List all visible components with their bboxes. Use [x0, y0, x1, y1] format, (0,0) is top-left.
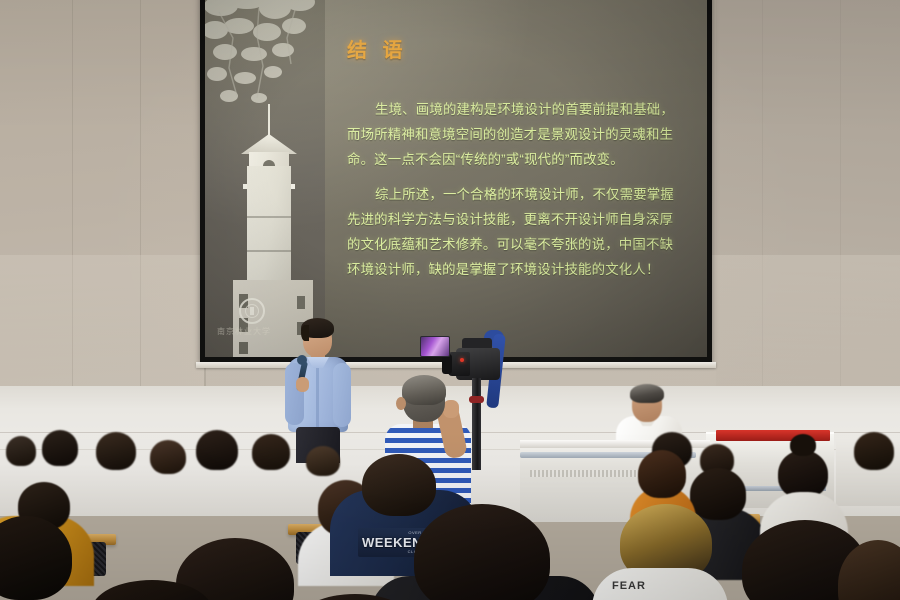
- tower-roof: [241, 134, 297, 154]
- videographer-ear: [396, 397, 406, 410]
- slide-paragraph-2: 综上所述，一个合格的环境设计师，不仅需要掌握先进的科学方法与设计技能，更离不开设…: [347, 182, 679, 282]
- audience-head: [42, 430, 78, 466]
- camera-record-indicator-icon: [460, 358, 464, 362]
- lecture-hall-photo: 南京林业大学 结 语 生境、画境的建构是环境设计的首要前提和基础，而场所精神和意…: [0, 0, 900, 600]
- audience-head: [252, 434, 290, 470]
- projection-screen: 南京林业大学 结 语 生境、画境的建构是环境设计的首要前提和基础，而场所精神和意…: [205, 0, 707, 357]
- black-tee-person-head: [690, 468, 746, 520]
- bun-hair-person-head: [778, 450, 828, 498]
- speaker-right-arm: [333, 363, 351, 427]
- videographer-hand: [443, 400, 459, 418]
- fear-tee-print: FEAR: [612, 580, 646, 592]
- audience-head: [306, 446, 340, 476]
- weekend-jacket-head: [362, 454, 436, 516]
- audience-head: [854, 432, 894, 470]
- projection-screen-frame: 南京林业大学 结 语 生境、画境的建构是环境设计的首要前提和基础，而场所精神和意…: [200, 0, 712, 362]
- hair-bun: [790, 434, 816, 456]
- audience-head: [150, 440, 186, 474]
- videographer-hair: [402, 375, 446, 405]
- front-head-center: [414, 504, 550, 600]
- audience-area: ream yo OVER ALL WEEKEND CLOTHING: [0, 430, 900, 600]
- camera-flip-screen: [420, 336, 450, 357]
- slide-title: 结 语: [347, 34, 679, 63]
- microphone-head-icon: [297, 355, 307, 365]
- podium-man-hair: [630, 384, 664, 403]
- slide-text-area: 结 语 生境、画境的建构是环境设计的首要前提和基础，而场所精神和意境空间的创造才…: [325, 0, 707, 357]
- tower-spire: [268, 104, 270, 136]
- speaker-hand: [296, 377, 309, 392]
- audience-head: [96, 432, 136, 470]
- audience-head: [196, 430, 238, 470]
- speaker-shirt-placket: [316, 363, 319, 429]
- audience-head: [6, 436, 36, 466]
- slide-photo-strip: 南京林业大学: [205, 0, 325, 357]
- university-seal-icon: [239, 298, 265, 324]
- orange-top-person-head: [638, 450, 686, 498]
- speaker-sideburn: [301, 325, 309, 341]
- slide-paragraph-1: 生境、画境的建构是环境设计的首要前提和基础，而场所精神和意境空间的创造才是景观设…: [347, 97, 679, 172]
